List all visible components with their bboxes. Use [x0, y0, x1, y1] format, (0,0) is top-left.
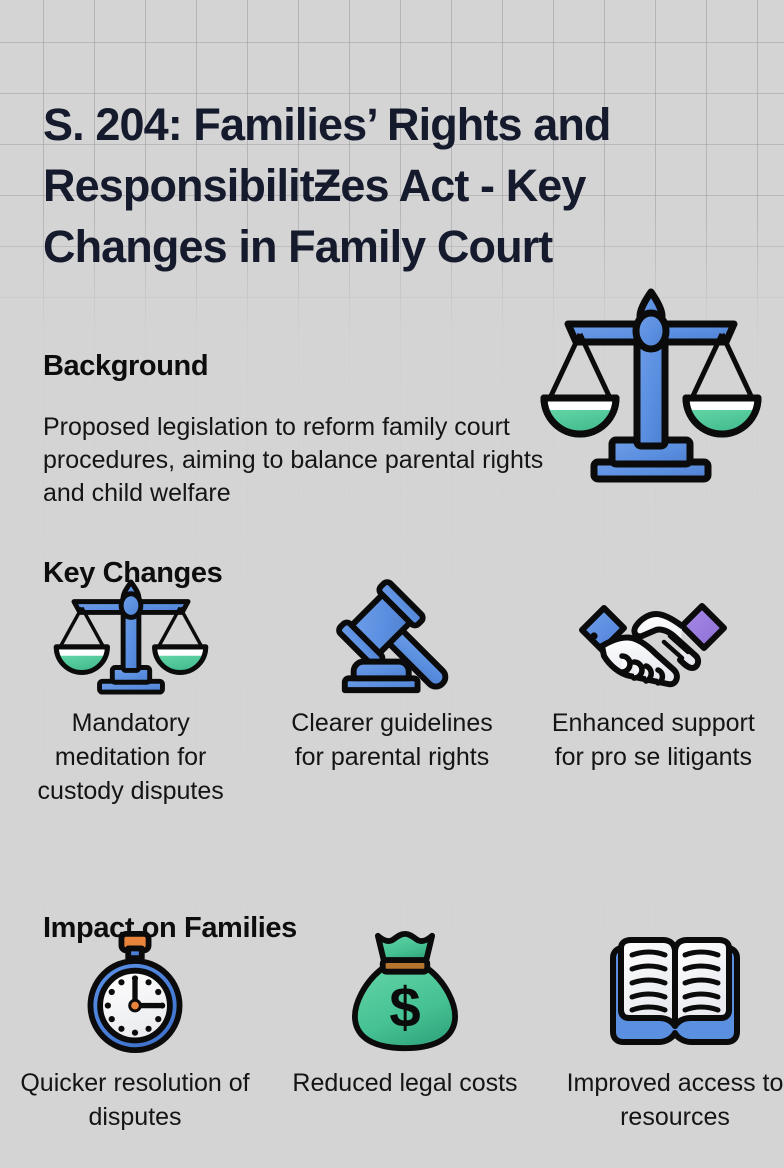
scales-of-justice-icon	[556, 288, 746, 488]
impact-item-2: $ Reduced legal costs	[270, 930, 540, 1134]
gavel-icon	[312, 580, 472, 698]
svg-text:$: $	[389, 976, 420, 1039]
money-bag-icon: $	[325, 930, 485, 1054]
impact-label-2: Reduced legal costs	[270, 1066, 540, 1100]
key-change-label-3: Enhanced support for pro se litigants	[546, 706, 761, 774]
key-change-label-2: Clearer guidelines for parental rights	[284, 706, 499, 774]
page-title: S. 204: Families’ Rights and Responsibil…	[43, 94, 755, 277]
section-heading-background: Background	[43, 350, 208, 383]
key-change-item-3: Enhanced support for pro se litigants	[523, 580, 784, 808]
handshake-icon	[573, 580, 733, 698]
background-body-text: Proposed legislation to reform family co…	[43, 411, 563, 510]
key-changes-row: Mandatory meditation for custody dispute…	[0, 580, 784, 808]
stopwatch-icon	[55, 930, 215, 1054]
infographic-page: S. 204: Families’ Rights and Responsibil…	[0, 0, 784, 1168]
impact-item-1: Quicker resolution of disputes	[0, 930, 270, 1134]
impact-label-3: Improved access to resources	[540, 1066, 784, 1134]
open-book-icon	[595, 930, 755, 1054]
key-change-item-1: Mandatory meditation for custody dispute…	[0, 580, 261, 808]
impact-row: Quicker resolution of disputes	[0, 930, 784, 1134]
key-change-label-1: Mandatory meditation for custody dispute…	[23, 706, 238, 808]
impact-label-1: Quicker resolution of disputes	[0, 1066, 270, 1134]
scales-of-justice-icon	[51, 580, 211, 698]
impact-item-3: Improved access to resources	[540, 930, 784, 1134]
key-change-item-2: Clearer guidelines for parental rights	[261, 580, 522, 808]
